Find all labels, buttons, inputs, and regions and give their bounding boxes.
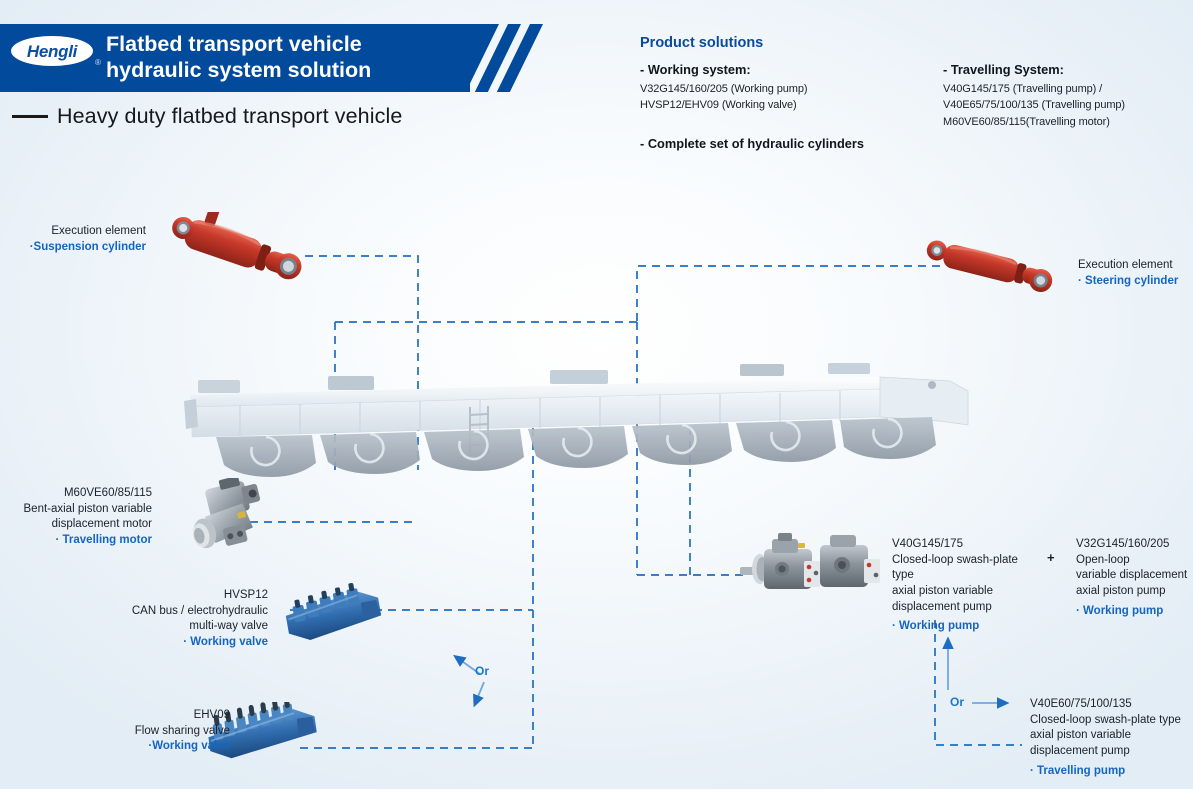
callout-highlight: · Working valve [104, 635, 268, 651]
suspension-cylinder-image [163, 212, 325, 290]
callout-line: Closed-loop swash-plate type [1030, 713, 1193, 729]
callout-highlight: ·Working valve [58, 739, 230, 755]
subtitle-dash-icon [12, 115, 48, 118]
callout-line: HVSP12 [104, 588, 268, 604]
complete-set-heading: - Complete set of hydraulic cylinders [640, 136, 864, 151]
hvsp12-valve-image [276, 582, 386, 644]
travelling-system-block: - Travelling System: V40G145/175 (Travel… [943, 62, 1125, 130]
working-system-line: V32G145/160/205 (Working pump) [640, 81, 807, 97]
callout-highlight: · Travelling pump [1030, 764, 1193, 780]
callout-v40e-pump: V40E60/75/100/135 Closed-loop swash-plat… [1030, 697, 1193, 779]
callout-line: V40E60/75/100/135 [1030, 697, 1193, 713]
callout-line: displacement motor [2, 517, 152, 533]
plus-connector: + [1047, 550, 1055, 565]
subtitle-text: Heavy duty flatbed transport vehicle [57, 104, 402, 129]
travelling-system-line: V40G145/175 (Travelling pump) / [943, 81, 1125, 97]
callout-line: displacement pump [1030, 744, 1193, 760]
callout-hvsp12-valve: HVSP12 CAN bus / electrohydraulic multi-… [104, 588, 268, 651]
callout-line: Open-loop [1076, 553, 1193, 569]
travelling-motor-image [176, 478, 274, 560]
callout-line: V32G145/160/205 [1076, 537, 1193, 553]
callout-highlight: · Travelling motor [2, 533, 152, 549]
callout-line: displacement pump [892, 600, 1042, 616]
or-label-right: Or [950, 695, 964, 709]
callout-highlight: ·Suspension cylinder [18, 240, 146, 256]
callout-line: M60VE60/85/115 [2, 486, 152, 502]
callout-highlight: · Working pump [1076, 604, 1193, 620]
registered-trademark-icon: ® [95, 58, 101, 67]
or-arrows-right [930, 630, 1020, 715]
poster-canvas: Hengli ® Flatbed transport vehicle hydra… [0, 0, 1193, 789]
or-label-left: Or [475, 664, 489, 678]
or-arrows-left [440, 640, 530, 720]
callout-line: Bent-axial piston variable [2, 502, 152, 518]
callout-line: Execution element [1078, 258, 1190, 274]
callout-line: Flow sharing valve [58, 724, 230, 740]
callout-line: axial piston variable [892, 584, 1042, 600]
callout-line: multi-way valve [104, 619, 268, 635]
callout-highlight: · Steering cylinder [1078, 274, 1190, 290]
callout-line: variable displacement [1076, 568, 1193, 584]
hengli-logo: Hengli [11, 36, 93, 66]
callout-travelling-motor: M60VE60/85/115 Bent-axial piston variabl… [2, 486, 152, 549]
callout-line: axial piston variable [1030, 728, 1193, 744]
travelling-system-heading: - Travelling System: [943, 62, 1125, 77]
vehicle-chassis-illustration [180, 355, 970, 505]
callout-v40g-pump: V40G145/175 Closed-loop swash-plate type… [892, 537, 1042, 635]
callout-line: Closed-loop swash-plate type [892, 553, 1042, 584]
callout-suspension-cylinder: Execution element ·Suspension cylinder [18, 224, 146, 255]
callout-line: EHV09 [58, 708, 230, 724]
logo-text: Hengli [27, 43, 77, 60]
travelling-system-line: V40E65/75/100/135 (Travelling pump) [943, 97, 1125, 113]
callout-steering-cylinder: Execution element · Steering cylinder [1078, 258, 1190, 289]
callout-v32g-pump: V32G145/160/205 Open-loop variable displ… [1076, 537, 1193, 619]
callout-line: Execution element [18, 224, 146, 240]
working-system-heading: - Working system: [640, 62, 807, 77]
working-system-line: HVSP12/EHV09 (Working valve) [640, 97, 807, 113]
callout-line: CAN bus / electrohydraulic [104, 604, 268, 620]
product-solutions-title: Product solutions [640, 35, 763, 51]
travelling-system-line: M60VE60/85/115(Travelling motor) [943, 114, 1125, 130]
callout-highlight: · Working pump [892, 619, 1042, 635]
subtitle: Heavy duty flatbed transport vehicle [12, 104, 402, 129]
callout-line: axial piston pump [1076, 584, 1193, 600]
page-title: Flatbed transport vehicle hydraulic syst… [106, 31, 371, 83]
callout-ehv09-valve: EHV09 Flow sharing valve ·Working valve [58, 708, 230, 755]
working-system-block: - Working system: V32G145/160/205 (Worki… [640, 62, 807, 114]
axial-piston-pump-image [738, 525, 890, 601]
callout-line: V40G145/175 [892, 537, 1042, 553]
steering-cylinder-image [915, 238, 1065, 308]
